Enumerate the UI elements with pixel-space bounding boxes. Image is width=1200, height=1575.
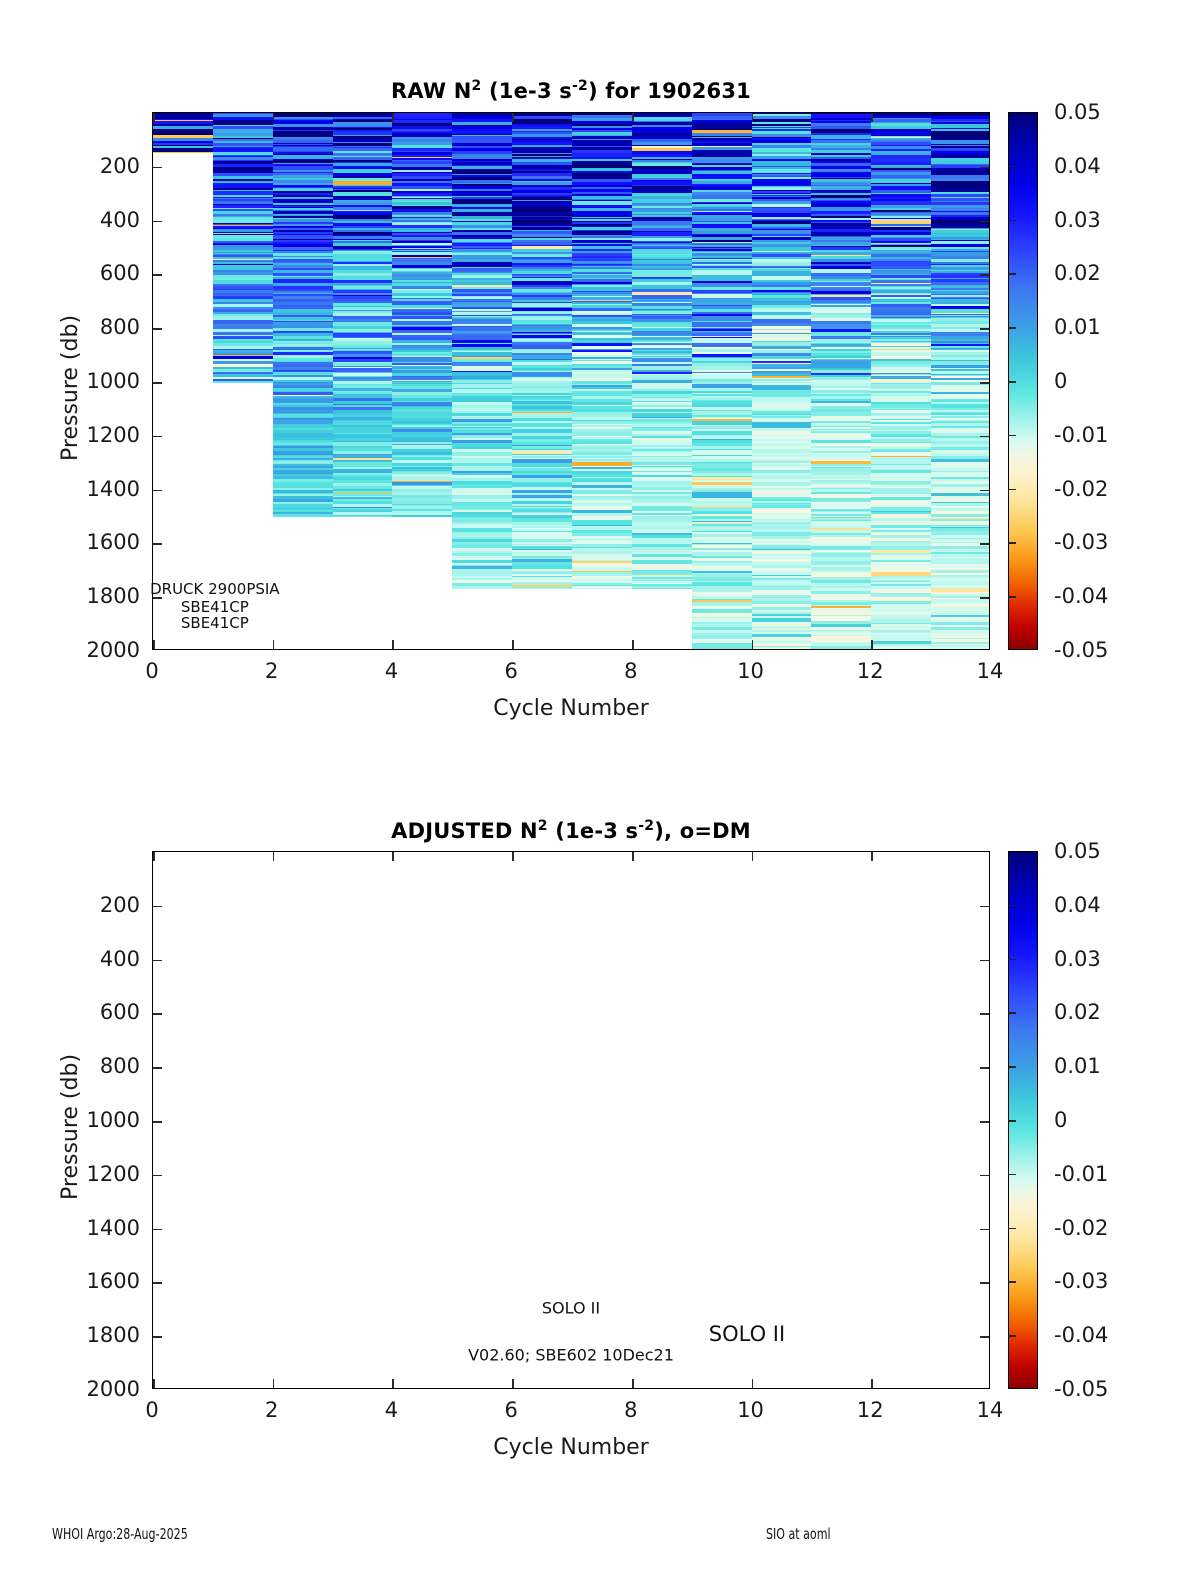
x-tick [392,640,394,649]
plot-annotation: SBE41CP [181,614,249,632]
x-tick-label: 8 [624,659,637,683]
y-tick [980,221,989,223]
colorbar-tick-label: -0.03 [1054,530,1108,554]
y-tick-label: 1800 [0,1323,140,1347]
colorbar-tick [1008,905,1016,907]
x-tick [273,640,275,649]
colorbar-tick [1008,220,1016,222]
y-tick-label: 400 [0,947,140,971]
y-tick [153,1282,162,1284]
x-tick [632,113,634,122]
heatmap-cell [153,152,213,153]
y-tick-label: 1400 [0,477,140,501]
x-tick-label: 12 [857,659,884,683]
colorbar-tick-label: 0.01 [1054,1054,1101,1078]
colorbar-tick [1008,327,1016,329]
x-tick-label: 14 [977,659,1004,683]
heatmap-column [692,113,752,650]
y-tick [153,1175,162,1177]
y-tick-label: 1600 [0,1269,140,1293]
heatmap-column [333,113,393,517]
y-tick [153,436,162,438]
plot-title-adjusted: ADJUSTED N2 (1e-3 s-2), o=DM [391,818,751,843]
x-tick [632,640,634,649]
colorbar-tick-label: -0.02 [1054,1216,1108,1240]
y-tick-label: 1600 [0,530,140,554]
x-tick [752,640,754,649]
y-tick [980,328,989,330]
y-tick [153,490,162,492]
y-tick [153,1229,162,1231]
heatmap-cell [692,649,752,650]
x-tick-label: 10 [737,1398,764,1422]
colorbar-tick [1008,1120,1016,1122]
y-tick [153,274,162,276]
x-tick [752,852,754,861]
y-tick [980,960,989,962]
x-tick [153,640,155,649]
heatmap-cell [752,648,812,650]
colorbar-tick [1008,381,1016,383]
colorbar-tick-label: 0.02 [1054,261,1101,285]
colorbar-tick-label: 0.04 [1054,893,1101,917]
colorbar-tick-label: -0.04 [1054,1323,1108,1347]
heatmap-column [392,113,452,517]
colorbar-tick-label: -0.01 [1054,423,1108,447]
heatmap-column [153,113,213,153]
y-tick [980,1013,989,1015]
colorbar-tick [1008,166,1016,168]
x-tick-label: 4 [385,659,398,683]
y-tick [980,382,989,384]
y-tick-label: 1800 [0,584,140,608]
y-tick-label: 2000 [0,638,140,662]
colorbar-tick-label: 0.05 [1054,100,1101,124]
x-tick [512,113,514,122]
x-tick [871,113,873,122]
x-tick [871,640,873,649]
footer-right-text: SIO at aoml [766,1525,831,1543]
colorbar-tick-label: -0.04 [1054,584,1108,608]
y-tick [153,1067,162,1069]
colorbar-tick [1008,1174,1016,1176]
colorbar-tick [1008,1281,1016,1283]
heatmap-cell [452,588,512,589]
y-tick [980,490,989,492]
colorbar-tick-label: 0.05 [1054,839,1101,863]
x-tick [392,1379,394,1388]
y-tick [980,906,989,908]
colorbar-tick-label: -0.05 [1054,1377,1108,1401]
heatmap-column [811,113,871,650]
colorbar-tick [1008,1335,1016,1337]
heatmap-cell [213,381,273,383]
x-tick-label: 2 [265,659,278,683]
y-tick-label: 200 [0,893,140,917]
plot-annotation: DRUCK 2900PSIA [150,580,279,598]
heatmap-column [512,113,572,589]
y-tick-label: 1400 [0,1216,140,1240]
y-tick [153,328,162,330]
y-tick [980,1175,989,1177]
colorbar-tick-label: 0.03 [1054,947,1101,971]
y-tick [980,167,989,169]
heatmap-cell [392,515,452,517]
colorbar-tick-label: -0.03 [1054,1269,1108,1293]
plot-annotation: SOLO II [542,1299,600,1318]
y-tick [153,543,162,545]
colorbar-tick-label: -0.02 [1054,477,1108,501]
y-tick [153,167,162,169]
y-tick-label: 400 [0,208,140,232]
y-axis-title: Pressure (db) [58,315,83,461]
colorbar-tick-label: 0.02 [1054,1000,1101,1024]
x-tick-label: 14 [977,1398,1004,1422]
axes-raw [152,112,990,650]
colorbar-tick-label: 0 [1054,1108,1067,1132]
x-tick-label: 0 [145,659,158,683]
colorbar-tick-label: -0.01 [1054,1162,1108,1186]
x-axis-title: Cycle Number [493,1435,649,1460]
x-tick [512,1379,514,1388]
x-tick [273,852,275,861]
y-tick [980,1229,989,1231]
heatmap-column [632,113,692,589]
y-tick-label: 2000 [0,1377,140,1401]
x-tick [632,852,634,861]
x-tick [752,1379,754,1388]
y-tick [980,1067,989,1069]
x-tick [871,852,873,861]
x-tick [752,113,754,122]
heatmap-cell [811,649,871,650]
y-axis-title: Pressure (db) [58,1054,83,1200]
colorbar-tick [1008,273,1016,275]
x-tick-label: 6 [504,1398,517,1422]
y-tick-label: 600 [0,261,140,285]
y-tick [153,221,162,223]
y-tick-label: 200 [0,154,140,178]
heatmap-column [452,113,512,589]
x-tick-label: 0 [145,1398,158,1422]
plot-annotation: SOLO II [709,1322,785,1346]
heatmap-cell [273,516,333,517]
x-tick-label: 12 [857,1398,884,1422]
colorbar-tick-label: 0.04 [1054,154,1101,178]
x-tick-label: 6 [504,659,517,683]
y-tick [980,1121,989,1123]
x-tick-label: 2 [265,1398,278,1422]
colorbar-tick [1008,596,1016,598]
x-tick [632,1379,634,1388]
y-tick [980,597,989,599]
x-tick [153,852,155,861]
x-tick [512,852,514,861]
y-tick [153,1336,162,1338]
heatmap-column [273,113,333,517]
x-tick [153,113,155,122]
y-tick-label: 600 [0,1000,140,1024]
y-tick [153,906,162,908]
colorbar-tick-label: 0.01 [1054,315,1101,339]
heatmap-cell [632,588,692,589]
x-tick-label: 4 [385,1398,398,1422]
colorbar-tick [1008,489,1016,491]
y-tick [153,960,162,962]
x-tick [273,113,275,122]
heatmap-column [752,113,812,650]
heatmap-column [213,113,273,383]
y-tick [980,436,989,438]
colorbar-tick [1008,1066,1016,1068]
heatmap-cell [333,516,393,517]
heatmap-column [572,113,632,589]
colorbar-tick [1008,435,1016,437]
x-tick-label: 10 [737,659,764,683]
x-axis-title: Cycle Number [493,696,649,721]
heatmap-column [871,113,931,650]
y-tick [980,274,989,276]
y-tick [980,1336,989,1338]
y-tick [980,1282,989,1284]
x-tick-label: 8 [624,1398,637,1422]
y-tick [153,382,162,384]
colorbar-tick [1008,1228,1016,1230]
plot-annotation: V02.60; SBE602 10Dec21 [468,1346,674,1365]
y-tick [980,543,989,545]
plot-title-raw: RAW N2 (1e-3 s-2) for 1902631 [391,78,751,103]
x-tick [871,1379,873,1388]
colorbar-tick [1008,542,1016,544]
y-tick [153,1121,162,1123]
heatmap-cell [931,649,990,650]
heatmap-cell [512,588,572,589]
colorbar-tick-label: 0.03 [1054,208,1101,232]
colorbar-tick-label: -0.05 [1054,638,1108,662]
x-tick [273,1379,275,1388]
x-tick [512,640,514,649]
y-tick [153,1013,162,1015]
x-tick [153,1379,155,1388]
colorbar-tick-label: 0 [1054,369,1067,393]
colorbar-tick [1008,1012,1016,1014]
footer-left-text: WHOI Argo:28-Aug-2025 [52,1525,188,1543]
colorbar-tick [1008,959,1016,961]
heatmap-cell [871,649,931,650]
x-tick [392,113,394,122]
x-tick [392,852,394,861]
